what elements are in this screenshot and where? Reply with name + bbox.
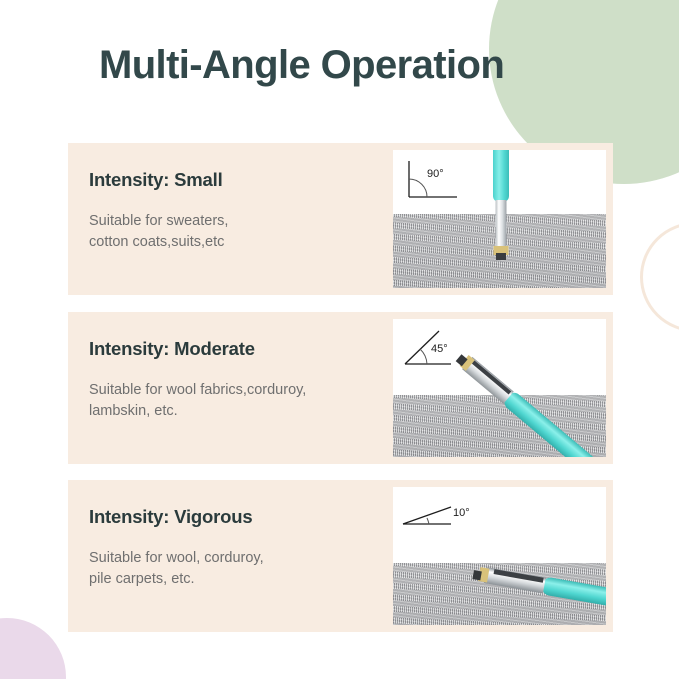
- fabric-shaver-tool-diagonal: [393, 319, 606, 457]
- card-description: Suitable for sweaters, cotton coats,suit…: [89, 211, 375, 253]
- card-text-block: Intensity: Small Suitable for sweaters, …: [68, 143, 393, 295]
- card-heading: Intensity: Vigorous: [89, 506, 375, 528]
- card-text-block: Intensity: Vigorous Suitable for wool, c…: [68, 480, 393, 632]
- fabric-shaver-tool-horizontal: [393, 487, 606, 625]
- card-text-block: Intensity: Moderate Suitable for wool fa…: [68, 312, 393, 464]
- page-title: Multi-Angle Operation: [99, 43, 504, 88]
- intensity-card-moderate: Intensity: Moderate Suitable for wool fa…: [68, 312, 613, 464]
- infographic-page: Multi-Angle Operation Intensity: Small S…: [0, 0, 679, 679]
- card-description: Suitable for wool, corduroy, pile carpet…: [89, 548, 375, 590]
- intensity-card-vigorous: Intensity: Vigorous Suitable for wool, c…: [68, 480, 613, 632]
- card-illustration-panel: 45°: [393, 319, 606, 457]
- card-description: Suitable for wool fabrics,corduroy, lamb…: [89, 380, 375, 422]
- ring-outline-decoration: [640, 222, 679, 332]
- card-heading: Intensity: Moderate: [89, 338, 375, 360]
- fabric-shaver-tool-vertical: [393, 150, 606, 288]
- intensity-card-small: Intensity: Small Suitable for sweaters, …: [68, 143, 613, 295]
- card-illustration-panel: 90°: [393, 150, 606, 288]
- card-heading: Intensity: Small: [89, 169, 375, 191]
- pink-circle-decoration: [0, 618, 66, 679]
- card-illustration-panel: 10°: [393, 487, 606, 625]
